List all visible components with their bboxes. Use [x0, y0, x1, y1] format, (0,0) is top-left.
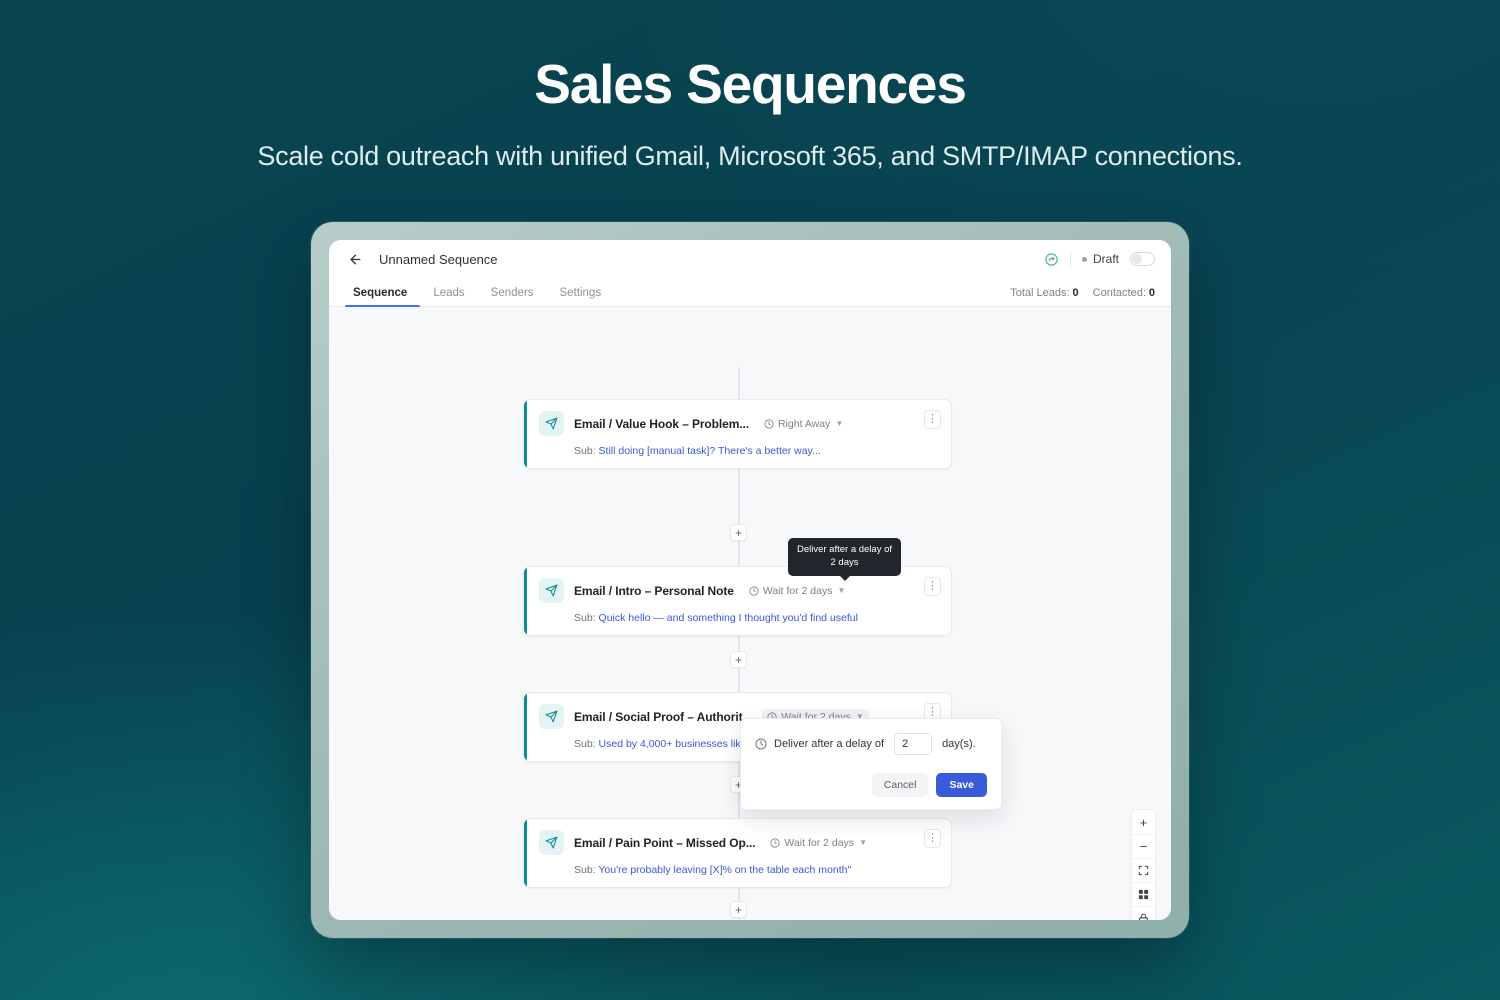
paper-plane-icon	[539, 704, 564, 729]
node-title: Email / Pain Point – Missed Op...	[574, 836, 755, 850]
node-title: Email / Value Hook – Problem...	[574, 417, 749, 431]
tab-settings[interactable]: Settings	[547, 287, 615, 306]
back-button[interactable]	[345, 249, 365, 269]
node-subject-text: Still doing [manual task]? There's a bet…	[599, 445, 821, 457]
zoom-out-icon[interactable]: −	[1132, 834, 1155, 858]
node-subject-prefix: Sub:	[574, 864, 596, 876]
node-subject-prefix: Sub:	[574, 738, 596, 750]
paper-plane-icon	[539, 411, 564, 436]
status-dot-icon	[1082, 257, 1087, 262]
popover-actions: Cancel Save	[755, 773, 987, 797]
clock-icon	[755, 738, 767, 750]
node-subject-line: Sub: You're probably leaving [X]% on the…	[574, 864, 940, 876]
chevron-down-icon: ▼	[837, 586, 845, 595]
node-kebab-menu-icon[interactable]: ⋮	[924, 829, 941, 848]
device-frame: Unnamed Sequence Draft	[311, 222, 1189, 938]
node-delay-label: Right Away	[778, 418, 830, 430]
stat-contacted-label: Contacted:	[1093, 287, 1146, 299]
clock-icon	[764, 419, 774, 429]
node-subject-text: Quick hello — and something I thought yo…	[599, 612, 858, 624]
node-delay-selector[interactable]: Right Away ▼	[759, 416, 848, 432]
fit-view-icon[interactable]	[1132, 858, 1155, 882]
node-kebab-menu-icon[interactable]: ⋮	[924, 410, 941, 429]
stat-total-leads-label: Total Leads:	[1010, 287, 1069, 299]
popover-unit-label: day(s).	[942, 738, 976, 750]
header-actions: Draft	[1044, 252, 1155, 267]
node-body: Email / Pain Point – Missed Op... Wait f…	[527, 819, 951, 887]
cloud-sync-icon[interactable]	[1044, 252, 1059, 267]
node-subject-line: Sub: Still doing [manual task]? There's …	[574, 445, 940, 457]
popover-label: Deliver after a delay of	[774, 738, 884, 750]
chevron-down-icon: ▼	[859, 838, 867, 847]
flow-node-email-1[interactable]: Email / Value Hook – Problem... Right Aw…	[523, 399, 952, 469]
stat-total-leads-value: 0	[1073, 287, 1079, 299]
sequence-title: Unnamed Sequence	[379, 252, 498, 267]
node-header-row: Email / Pain Point – Missed Op... Wait f…	[539, 830, 940, 855]
node-subject-prefix: Sub:	[574, 612, 596, 624]
add-step-button-2[interactable]: +	[730, 651, 747, 668]
stat-contacted: Contacted:0	[1093, 287, 1155, 299]
tab-bar: Sequence Leads Senders Settings Total Le…	[329, 278, 1171, 307]
chevron-down-icon: ▼	[835, 419, 843, 428]
flow-node-email-4[interactable]: Email / Pain Point – Missed Op... Wait f…	[523, 818, 952, 888]
hero-section: Sales Sequences Scale cold outreach with…	[0, 0, 1500, 172]
status-badge: Draft	[1082, 252, 1119, 266]
delay-tooltip: Deliver after a delay of 2 days	[788, 538, 901, 576]
stats-group: Total Leads:0 Contacted:0	[1010, 287, 1155, 306]
node-subject-text: You're probably leaving [X]% on the tabl…	[598, 864, 851, 876]
node-header-row: Email / Intro – Personal Note Wait for 2…	[539, 578, 940, 603]
zoom-in-icon[interactable]: +	[1132, 810, 1155, 834]
node-delay-selector[interactable]: Wait for 2 days ▼	[765, 835, 872, 851]
popover-row: Deliver after a delay of day(s).	[755, 733, 987, 755]
stat-contacted-value: 0	[1149, 287, 1155, 299]
arrow-left-icon	[348, 252, 363, 267]
tab-leads[interactable]: Leads	[420, 287, 477, 306]
node-title: Email / Social Proof – Authorit...	[574, 710, 752, 724]
page-subtitle: Scale cold outreach with unified Gmail, …	[0, 141, 1500, 172]
add-step-button-1[interactable]: +	[730, 524, 747, 541]
node-header-row: Email / Value Hook – Problem... Right Aw…	[539, 411, 940, 436]
grid-toggle-icon[interactable]	[1132, 882, 1155, 906]
node-subject-text: Used by 4,000+ businesses like [ 	[599, 738, 761, 750]
delay-popover[interactable]: Deliver after a delay of day(s). Cancel …	[740, 718, 1002, 810]
paper-plane-icon	[539, 578, 564, 603]
cancel-button[interactable]: Cancel	[872, 773, 929, 797]
clock-icon	[749, 586, 759, 596]
save-button[interactable]: Save	[936, 773, 987, 797]
canvas-toolbar: + −	[1131, 809, 1156, 920]
app-screen: Unnamed Sequence Draft	[329, 240, 1171, 920]
add-step-button-4[interactable]: +	[730, 901, 747, 918]
node-delay-label: Wait for 2 days	[763, 585, 833, 597]
header-divider	[1070, 252, 1071, 267]
flow-canvas[interactable]: Email / Value Hook – Problem... Right Aw…	[329, 307, 1171, 920]
node-subject-prefix: Sub:	[574, 445, 596, 457]
status-label: Draft	[1093, 252, 1119, 266]
stat-total-leads: Total Leads:0	[1010, 287, 1078, 299]
delay-days-input[interactable]	[894, 733, 932, 755]
node-body: Email / Value Hook – Problem... Right Aw…	[527, 400, 951, 468]
tab-senders[interactable]: Senders	[478, 287, 547, 306]
node-kebab-menu-icon[interactable]: ⋮	[924, 577, 941, 596]
app-header: Unnamed Sequence Draft	[329, 240, 1171, 278]
lock-icon[interactable]	[1132, 906, 1155, 920]
tabs: Sequence Leads Senders Settings	[345, 287, 614, 306]
node-subject-line: Sub: Quick hello — and something I thoug…	[574, 612, 940, 624]
node-body: Email / Intro – Personal Note Wait for 2…	[527, 567, 951, 635]
publish-toggle[interactable]	[1130, 252, 1155, 266]
node-delay-label: Wait for 2 days	[784, 837, 854, 849]
page-title: Sales Sequences	[0, 56, 1500, 114]
node-title: Email / Intro – Personal Note	[574, 584, 734, 598]
node-delay-selector[interactable]: Wait for 2 days ▼	[744, 583, 851, 599]
flow-graph: Email / Value Hook – Problem... Right Aw…	[329, 307, 1171, 920]
flow-node-email-2[interactable]: Email / Intro – Personal Note Wait for 2…	[523, 566, 952, 636]
tab-sequence[interactable]: Sequence	[345, 287, 420, 306]
paper-plane-icon	[539, 830, 564, 855]
clock-icon	[770, 838, 780, 848]
